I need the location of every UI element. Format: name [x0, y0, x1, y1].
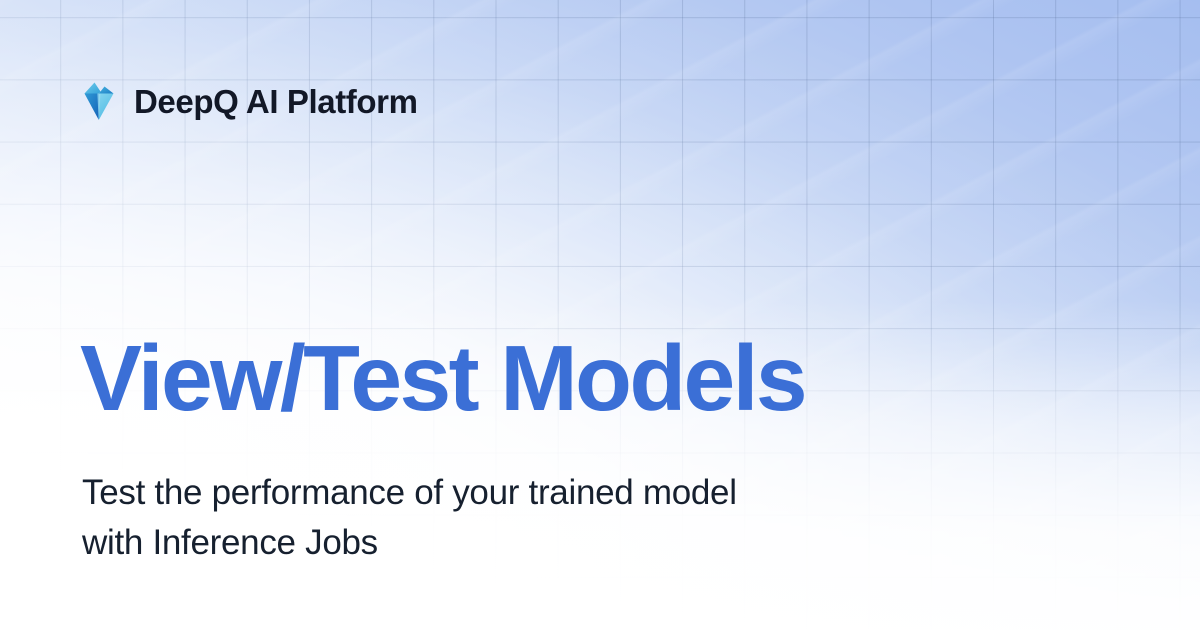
page-title: View/Test Models — [80, 330, 805, 427]
subtitle-line-1: Test the performance of your trained mod… — [82, 468, 737, 518]
page-subtitle: Test the performance of your trained mod… — [82, 468, 737, 567]
brand-name-label: DeepQ AI Platform — [134, 85, 418, 118]
card-content: DeepQ AI Platform View/Test Models Test … — [0, 0, 1200, 630]
share-card-canvas: DeepQ AI Platform View/Test Models Test … — [0, 0, 1200, 630]
subtitle-line-2: with Inference Jobs — [82, 518, 737, 568]
brand-lockup: DeepQ AI Platform — [82, 80, 418, 122]
gem-diamond-icon — [82, 80, 116, 122]
